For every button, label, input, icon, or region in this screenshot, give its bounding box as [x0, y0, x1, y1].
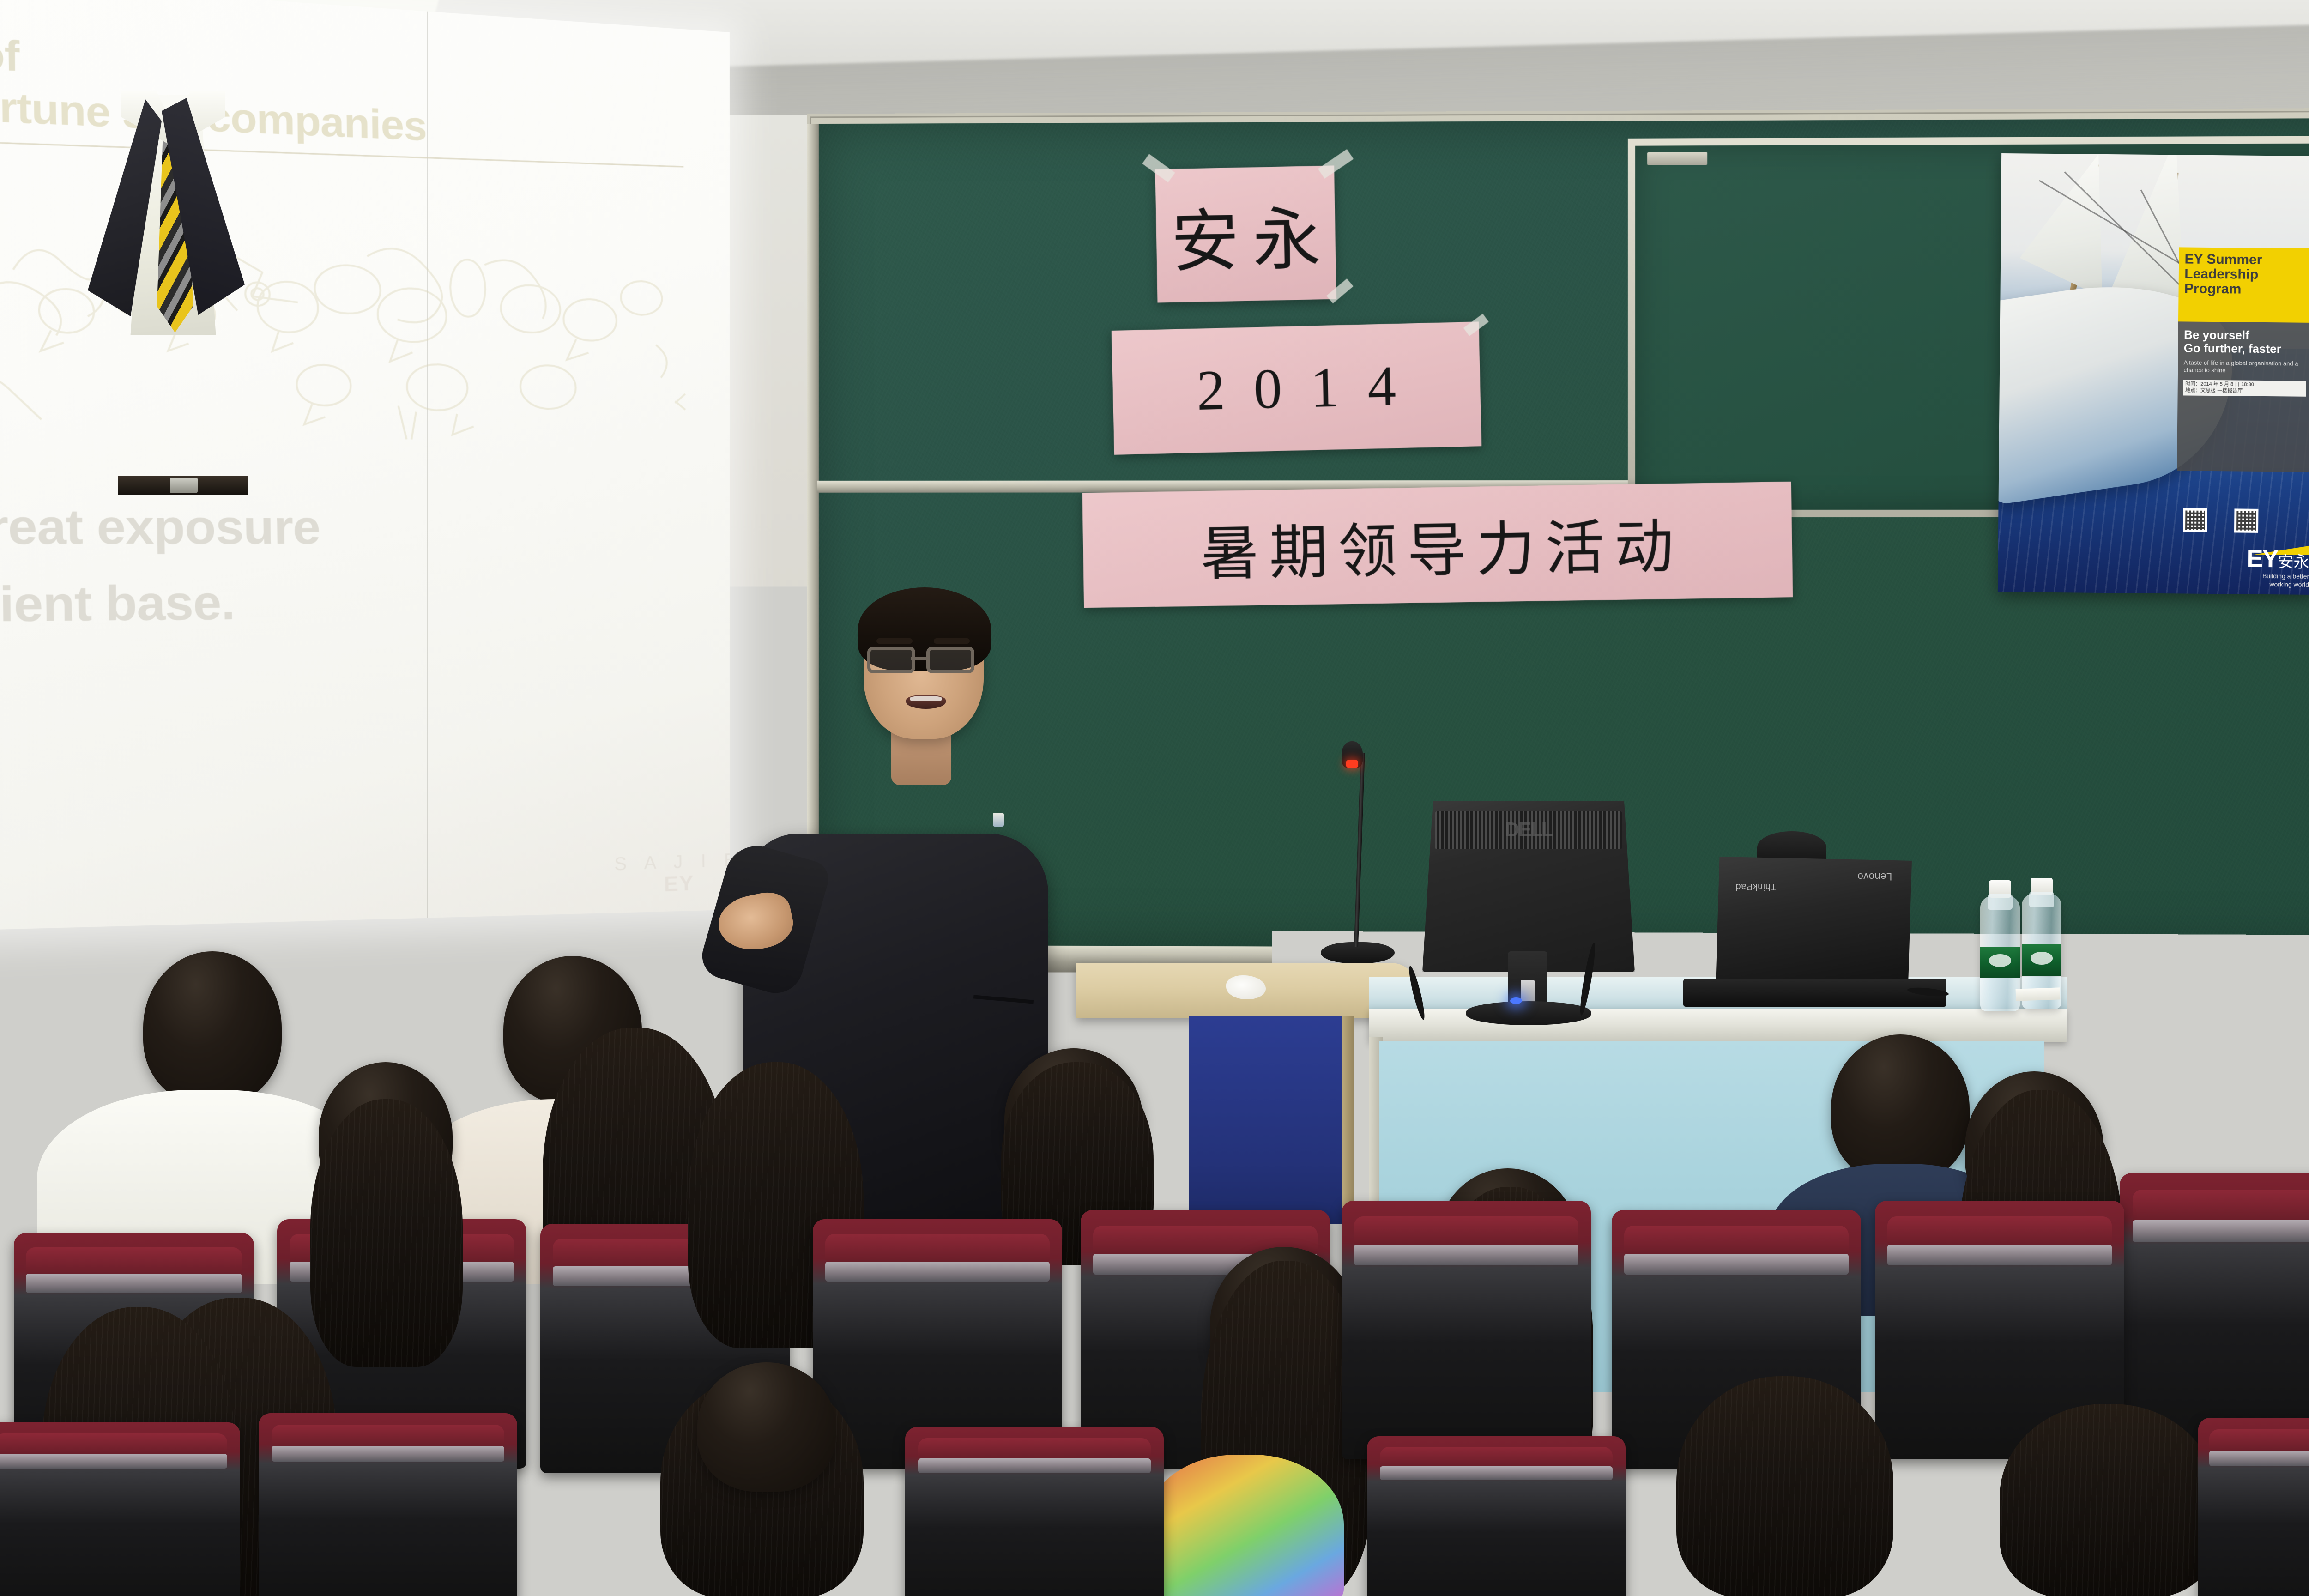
- water-bottle[interactable]: [1980, 896, 2020, 1011]
- eyeglasses-icon: [2239, 1083, 2279, 1105]
- poster-detail-place: 地点：文思楼 一楼报告厅: [2185, 388, 2304, 395]
- lecture-seat[interactable]: [259, 1413, 517, 1596]
- laptop-base: [1683, 979, 1946, 1007]
- slide-doodle-illustration: [0, 175, 703, 453]
- poster-title-line3: Program: [2184, 282, 2307, 298]
- slide-body-line2: strong client base.: [0, 573, 642, 635]
- ey-recruitment-poster: EY Summer Leadership Program Be yourself…: [1998, 153, 2309, 595]
- speaker-mouth: [906, 695, 946, 709]
- poster-tagline-line1: Be yourself: [2184, 328, 2307, 342]
- qr-code-icon[interactable]: [2234, 508, 2258, 532]
- slide-body-line1: ll have great exposure: [0, 498, 642, 556]
- audience-head: [1831, 1034, 1970, 1182]
- qr-code-icon[interactable]: [2183, 508, 2207, 532]
- poster-event-details: 时间：2014 年 5 月 8 日 18:30 地点：文思楼 一楼报告厅: [2183, 380, 2306, 397]
- bottle-label: [2022, 944, 2061, 976]
- poster-subtext: A taste of life in a global organisation…: [2183, 359, 2306, 375]
- ey-logo: EY安永 Building a better working world: [2246, 548, 2309, 588]
- sign-year: 2014: [1112, 321, 1481, 454]
- ey-tagline-line1: Building a better: [2246, 573, 2309, 580]
- lecture-seat[interactable]: [0, 1422, 240, 1596]
- bottle-neck: [2029, 892, 2054, 907]
- sign-company-name: 安永: [1155, 166, 1336, 303]
- speaker-eyebrow-left: [876, 638, 913, 644]
- projection-screen: ver 80% of Fortune 500 companies: [0, 0, 730, 932]
- thinkpad-laptop[interactable]: Lenovo ThinkPad: [1716, 857, 1912, 993]
- lecture-hall-photo: ver 80% of Fortune 500 companies: [0, 0, 2309, 1596]
- poster-title-line1: EY Summer: [2184, 252, 2307, 268]
- microphone-status-led: [1346, 760, 1358, 768]
- sailboat-jib: [2019, 153, 2103, 303]
- ey-logo-mark: EY: [2246, 545, 2278, 573]
- laptop-model-label: ThinkPad: [1735, 881, 1777, 892]
- slide-watermark: S A J I E EY: [609, 851, 730, 899]
- speaker-lapel-pin-icon: [993, 813, 1004, 827]
- blue-wall-panel: [1189, 1016, 1342, 1224]
- lecture-seat[interactable]: [905, 1427, 1164, 1596]
- poster-info-block: Be yourself Go further, faster A taste o…: [2177, 321, 2309, 472]
- bottle-neck: [1988, 894, 2013, 910]
- poster-title-block: EY Summer Leadership Program: [2178, 247, 2309, 323]
- poster-tagline-line2: Go further, faster: [2184, 342, 2307, 356]
- lecture-seat[interactable]: [2120, 1173, 2309, 1450]
- eyeglasses-icon: [867, 647, 915, 673]
- eyeglasses-bridge: [911, 657, 926, 660]
- eyeglasses-icon: [926, 647, 974, 673]
- audience-long-hair: [2000, 1404, 2217, 1596]
- ey-tagline-line2: working world: [2246, 580, 2309, 588]
- speaker-belt: [118, 476, 248, 495]
- slide-watermark-row: S A J I E: [609, 851, 730, 873]
- panel-clip-icon: [1647, 152, 1707, 165]
- poster-title-line2: Leadership: [2184, 266, 2307, 283]
- speaker-eyebrow-right: [934, 638, 970, 644]
- ey-logo-chinese: 安永: [2278, 553, 2309, 571]
- lecture-seat[interactable]: [1342, 1201, 1591, 1459]
- desktop-monitor[interactable]: DELL: [1422, 801, 1635, 972]
- audience-long-hair: [310, 1099, 463, 1367]
- bottle-label: [1980, 947, 2020, 978]
- audience-head: [697, 1362, 836, 1492]
- laptop-brand-label: Lenovo: [1857, 871, 1892, 883]
- panel-edge-trim: [1342, 1016, 1354, 1210]
- monitor-brand-label: DELL: [1505, 818, 1553, 841]
- audience-long-hair: [1676, 1376, 1893, 1596]
- monitor-stand-base: [1466, 1001, 1591, 1025]
- monitor-power-led: [1510, 997, 1522, 1004]
- white-card[interactable]: [2016, 987, 2061, 1001]
- audience-floral-top: [1145, 1455, 1344, 1596]
- lecture-seat[interactable]: [2198, 1418, 2309, 1596]
- sign-event-title: 暑期领导力活动: [1082, 482, 1793, 608]
- lecture-seat[interactable]: [1367, 1436, 1626, 1596]
- audience-head: [143, 951, 282, 1104]
